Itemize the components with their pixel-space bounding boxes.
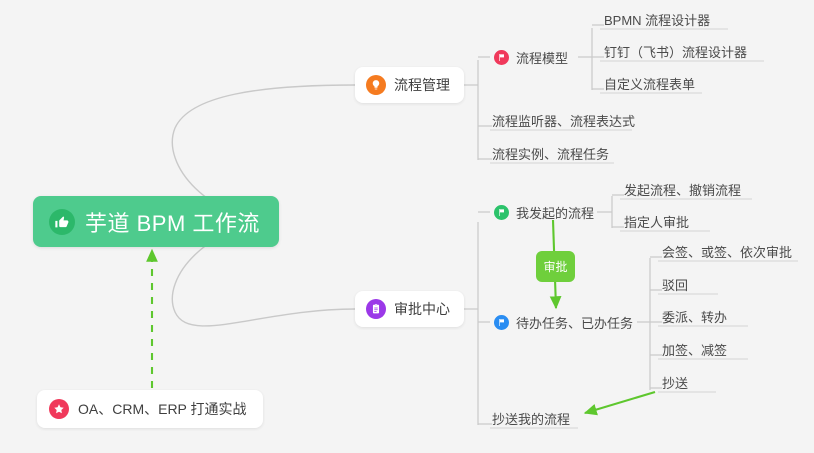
star-circle-icon: [49, 399, 69, 419]
integration-note-label: OA、CRM、ERP 打通实战: [78, 399, 247, 419]
node-label-process-model: 流程模型: [516, 48, 568, 67]
leaf-bpmn-designer[interactable]: BPMN 流程设计器: [604, 13, 710, 34]
leaf-cc-my-process[interactable]: 抄送我的流程: [492, 412, 570, 433]
node-todo-done-tasks[interactable]: 待办任务、已办任务: [494, 312, 633, 332]
flag-icon: [494, 50, 509, 65]
branch-label-process-management: 流程管理: [394, 75, 450, 95]
root-node[interactable]: 芋道 BPM 工作流: [33, 196, 279, 247]
node-label-todo-done-tasks: 待办任务、已办任务: [516, 313, 633, 332]
root-label: 芋道 BPM 工作流: [85, 206, 260, 238]
leaf-cc[interactable]: 抄送: [662, 376, 688, 397]
branch-node-approval-center[interactable]: 审批中心: [355, 291, 464, 327]
annotation-badge-label: 审批: [543, 258, 567, 275]
leaf-countersign-orsign-sequential[interactable]: 会签、或签、依次审批: [662, 245, 792, 266]
node-my-started-processes[interactable]: 我发起的流程: [494, 202, 594, 222]
leaf-custom-process-form[interactable]: 自定义流程表单: [604, 77, 695, 98]
leaf-delegate-transfer[interactable]: 委派、转办: [662, 310, 727, 331]
annotation-badge-approve: 审批: [536, 251, 575, 282]
integration-note-node[interactable]: OA、CRM、ERP 打通实战: [37, 390, 263, 428]
thumbs-up-icon: [49, 209, 75, 235]
leaf-reject[interactable]: 驳回: [662, 278, 688, 299]
clipboard-icon: [366, 299, 386, 319]
mindmap-canvas: 芋道 BPM 工作流 OA、CRM、ERP 打通实战 流程管理 流程模型 BPM…: [0, 0, 814, 453]
leaf-process-listener-expression[interactable]: 流程监听器、流程表达式: [492, 114, 635, 135]
leaf-assigned-approver[interactable]: 指定人审批: [624, 215, 689, 236]
arrow-cc-to-cc-my-process: [585, 392, 655, 413]
leaf-dingtalk-feishu-designer[interactable]: 钉钉（飞书）流程设计器: [604, 45, 747, 66]
leaf-process-instance-task[interactable]: 流程实例、流程任务: [492, 147, 609, 168]
node-label-my-started-processes: 我发起的流程: [516, 203, 594, 222]
flag-icon: [494, 315, 509, 330]
branch-label-approval-center: 审批中心: [394, 299, 450, 319]
node-process-model[interactable]: 流程模型: [494, 47, 568, 67]
lightbulb-icon: [366, 75, 386, 95]
leaf-start-cancel-process[interactable]: 发起流程、撤销流程: [624, 183, 741, 204]
flag-icon: [494, 205, 509, 220]
branch-node-process-management[interactable]: 流程管理: [355, 67, 464, 103]
leaf-add-remove-sign[interactable]: 加签、减签: [662, 343, 727, 364]
